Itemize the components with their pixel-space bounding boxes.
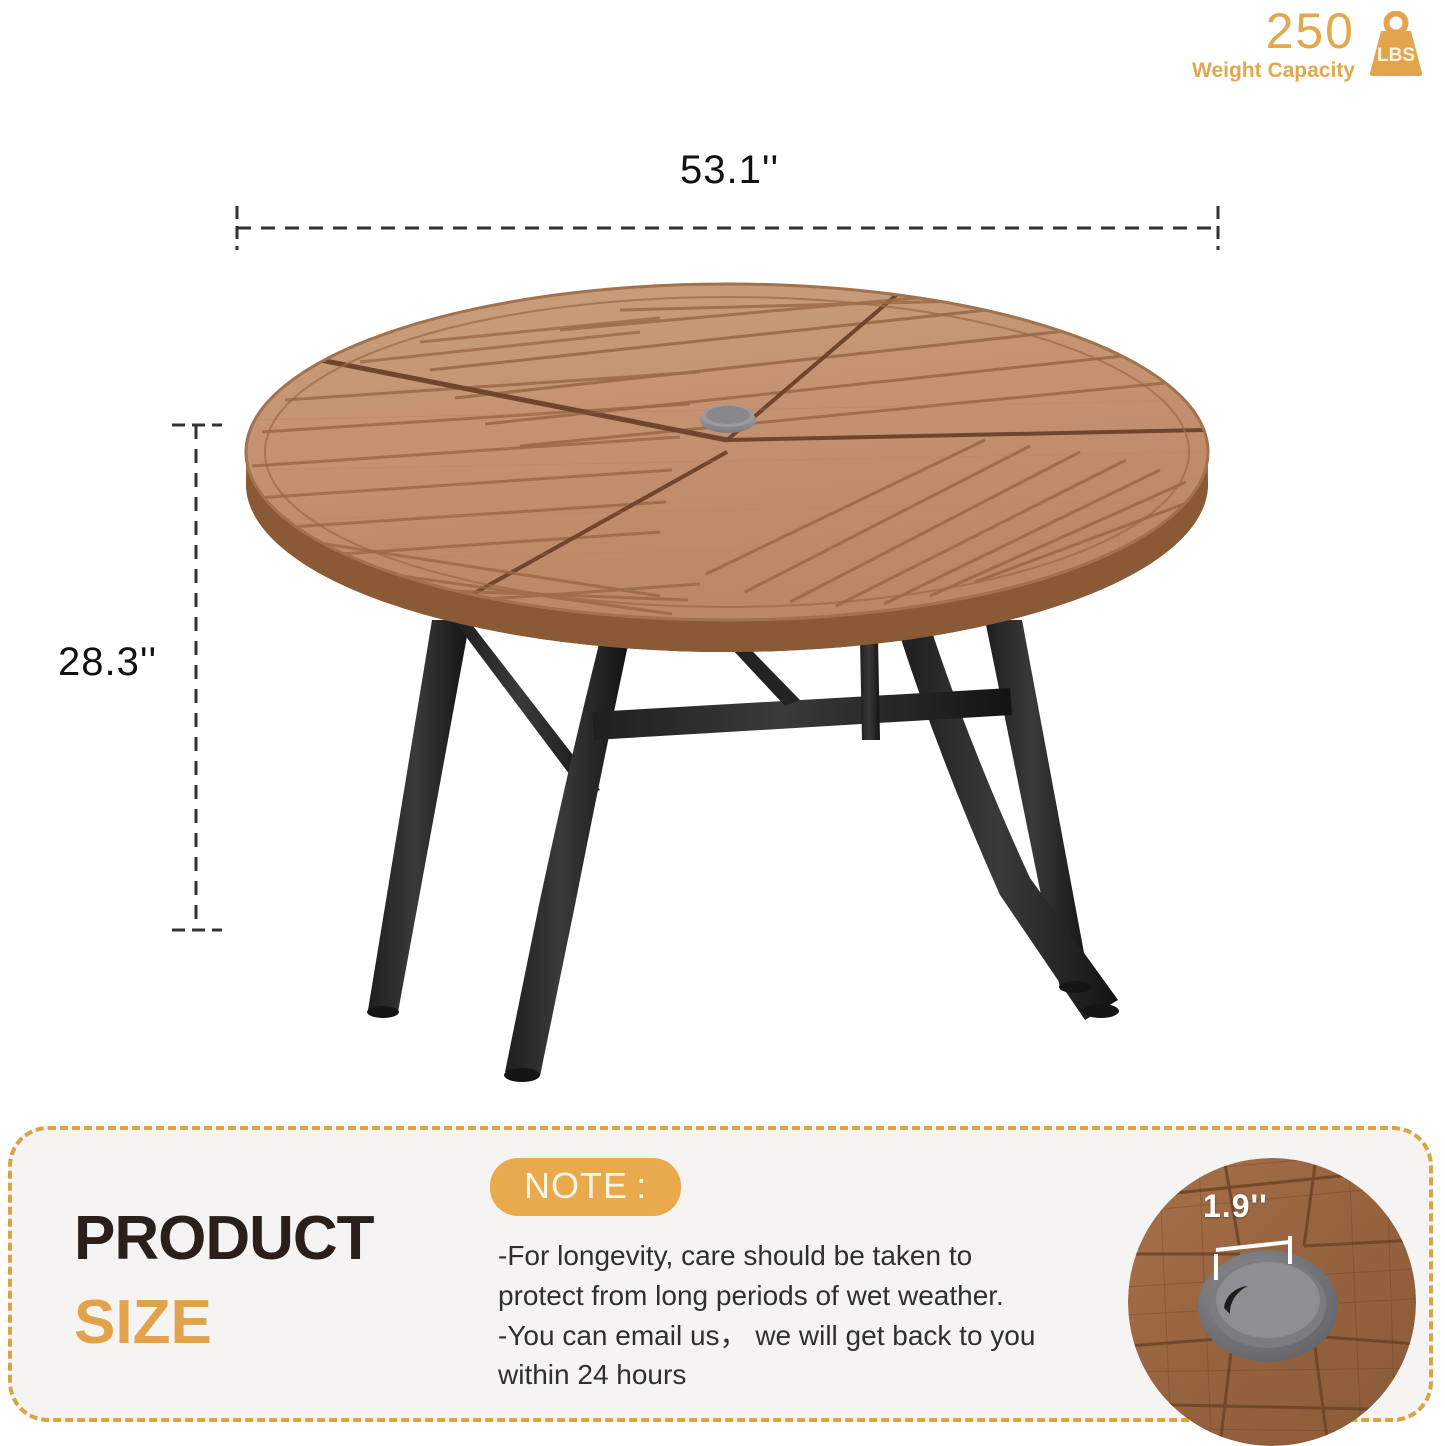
note-text-block: -For longevity, care should be taken to …: [498, 1236, 1038, 1395]
weight-capacity-text: 250 Weight Capacity: [1192, 6, 1355, 81]
weight-unit-text: LBS: [1377, 45, 1415, 66]
infographic-canvas: 53.1'' 28.3'' 250 Weight Capacity LBS PR…: [0, 0, 1445, 1435]
note-badge: NOTE :: [490, 1158, 681, 1216]
weight-icon: LBS: [1365, 11, 1427, 77]
dimension-label-width: 53.1'': [680, 148, 779, 193]
table-legs: [367, 618, 1119, 1082]
weight-capacity-label: Weight Capacity: [1192, 60, 1355, 81]
umbrella-hole-cap: [700, 405, 756, 433]
note-line-1: -For longevity, care should be taken to …: [498, 1236, 1038, 1316]
hole-diameter-label: 1.9'': [1203, 1188, 1268, 1225]
product-size-heading: PRODUCT SIZE: [74, 1208, 374, 1354]
product-heading-line2: SIZE: [74, 1292, 374, 1354]
dimension-line-width: [237, 206, 1218, 250]
dimension-label-height: 28.3'': [58, 640, 157, 685]
weight-capacity-badge: 250 Weight Capacity LBS: [1192, 6, 1427, 81]
tabletop-surface: [246, 284, 1208, 620]
dimension-line-height: [172, 425, 222, 930]
note-line-2: -You can email us， we will get back to y…: [498, 1316, 1038, 1396]
product-heading-line1: PRODUCT: [74, 1208, 374, 1270]
weight-capacity-value: 250: [1192, 6, 1355, 56]
umbrella-hole-closeup: [1128, 1158, 1416, 1446]
